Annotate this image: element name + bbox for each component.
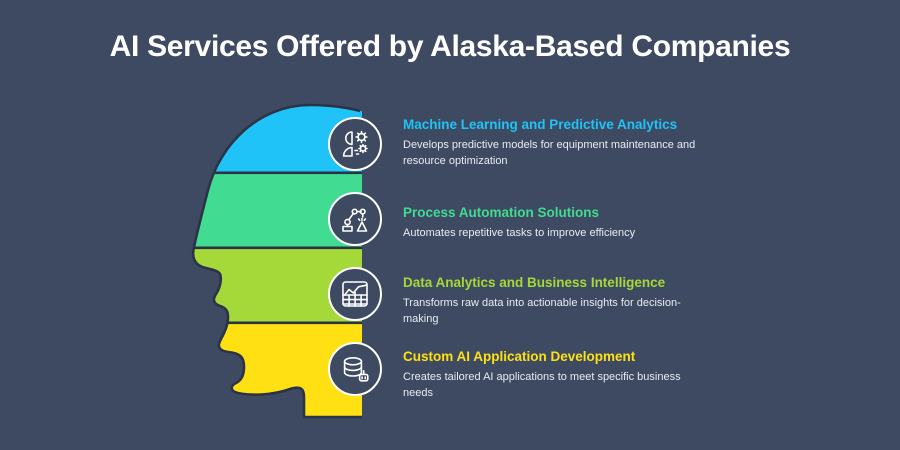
item-description: Transforms raw data into actionable insi… [403, 296, 708, 328]
icon-circle-custom-ai-app[interactable] [328, 342, 382, 396]
head-with-gears-icon [339, 128, 371, 160]
item-description: Creates tailored AI applications to meet… [403, 370, 708, 402]
item-description: Develops predictive models for equipment… [403, 138, 708, 170]
list-item: Process Automation Solutions Automates r… [403, 203, 708, 242]
infographic-canvas: Machine Learning and Predictive Analytic… [0, 95, 900, 435]
robotic-arm-icon [339, 203, 371, 235]
icon-circle-machine-learning[interactable] [328, 117, 382, 171]
chart-table-icon [339, 278, 371, 310]
icon-circle-process-automation[interactable] [328, 192, 382, 246]
list-item: Custom AI Application Development Create… [403, 347, 708, 402]
icon-circle-data-analytics[interactable] [328, 267, 382, 321]
list-item: Machine Learning and Predictive Analytic… [403, 115, 708, 170]
item-title: Process Automation Solutions [403, 203, 708, 222]
database-robot-icon [339, 353, 371, 385]
item-title: Custom AI Application Development [403, 347, 708, 366]
page-title: AI Services Offered by Alaska-Based Comp… [0, 30, 900, 64]
item-title: Machine Learning and Predictive Analytic… [403, 115, 708, 134]
item-description: Automates repetitive tasks to improve ef… [403, 226, 708, 242]
list-item: Data Analytics and Business Intelligence… [403, 273, 708, 328]
item-title: Data Analytics and Business Intelligence [403, 273, 708, 292]
